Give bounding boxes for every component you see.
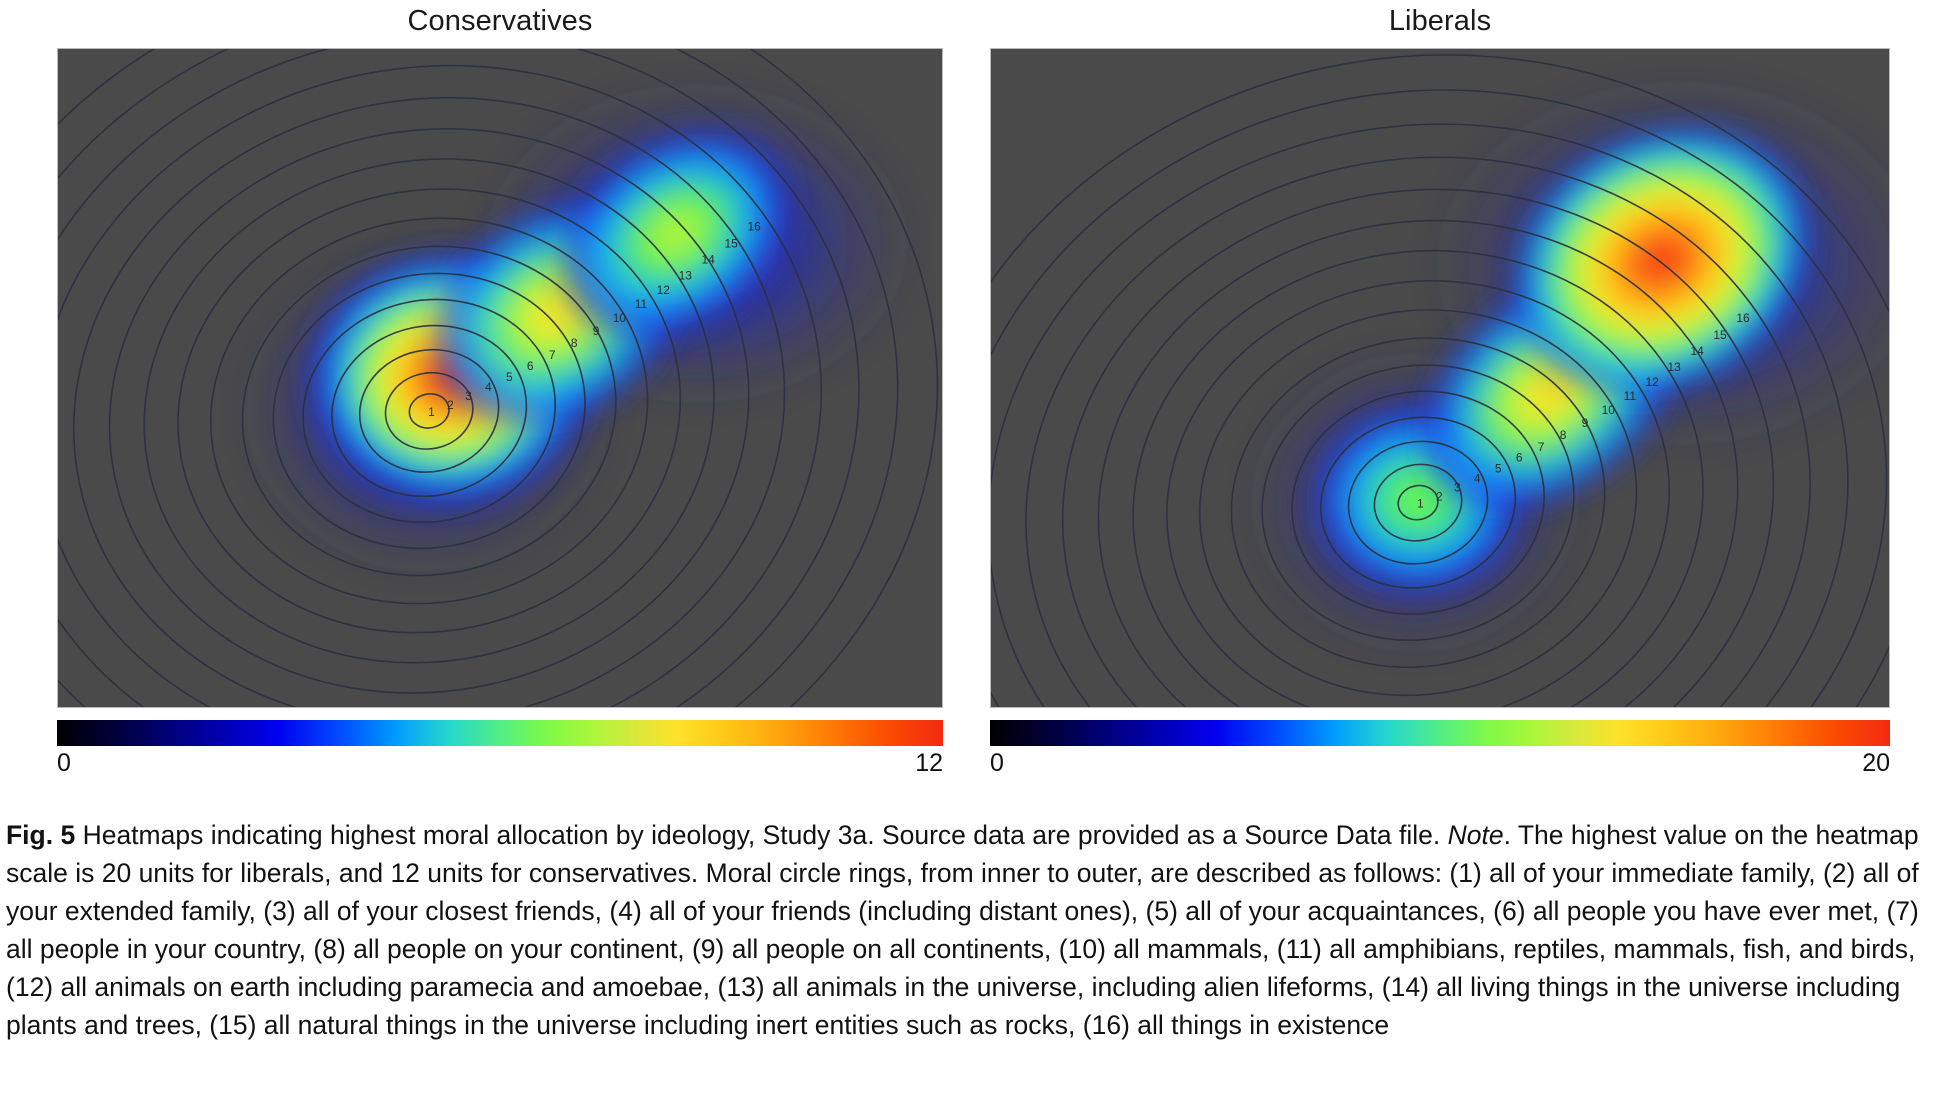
colorbar-min-label-liberals: 0 <box>990 748 1004 778</box>
ring-label-14: 14 <box>702 252 716 266</box>
ring-label-12: 12 <box>1646 375 1660 389</box>
colorbar-liberals <box>990 720 1890 746</box>
ring-label-11: 11 <box>635 297 648 311</box>
caption-part-2: . The highest value on the heatmap scale… <box>6 820 1919 1040</box>
ring-label-8: 8 <box>1560 428 1567 442</box>
ring-label-2: 2 <box>447 398 454 412</box>
ring-label-7: 7 <box>549 348 556 362</box>
panel-title-conservatives: Conservatives <box>57 0 943 48</box>
ring-label-15: 15 <box>724 236 738 250</box>
ring-label-3: 3 <box>465 389 472 403</box>
colorbar-ticks-liberals: 0 20 <box>990 748 1890 778</box>
colorbar-block-liberals: 0 20 <box>990 720 1890 778</box>
colorbar-max-label-conservatives: 12 <box>915 748 943 778</box>
ring-label-16: 16 <box>1736 311 1750 325</box>
ring-label-3: 3 <box>1454 481 1461 495</box>
ring-label-5: 5 <box>1495 462 1502 476</box>
ring-label-4: 4 <box>1474 472 1481 486</box>
ring-label-12: 12 <box>657 283 671 297</box>
ring-label-6: 6 <box>1516 451 1523 465</box>
figure-root: Conservatives <box>0 0 1956 1104</box>
ring-label-2: 2 <box>1436 490 1443 504</box>
ring-label-9: 9 <box>1582 416 1589 430</box>
heatmap-svg-conservatives: 1 2 3 4 5 6 7 8 9 10 11 12 13 14 <box>58 49 942 707</box>
ring-label-4: 4 <box>485 380 492 394</box>
heatmap-plot-conservatives: 1 2 3 4 5 6 7 8 9 10 11 12 13 14 <box>57 48 943 708</box>
ring-label-13: 13 <box>679 268 693 282</box>
caption-note-word: Note <box>1448 820 1504 850</box>
ring-label-6: 6 <box>527 359 534 373</box>
colorbar-min-label-conservatives: 0 <box>57 748 71 778</box>
colorbar-ticks-conservatives: 0 12 <box>57 748 943 778</box>
heatmap-svg-liberals: 1 2 3 4 5 6 7 8 9 10 11 12 13 14 <box>991 49 1889 707</box>
ring-label-1: 1 <box>428 405 435 419</box>
ring-label-9: 9 <box>593 324 600 338</box>
colorbar-conservatives <box>57 720 943 746</box>
panel-conservatives: Conservatives <box>57 0 943 778</box>
caption-part-1: Heatmaps indicating highest moral alloca… <box>75 820 1447 850</box>
figure-label: Fig. 5 <box>6 820 75 850</box>
heatmap-plot-liberals: 1 2 3 4 5 6 7 8 9 10 11 12 13 14 <box>990 48 1890 708</box>
ring-label-10: 10 <box>613 311 627 325</box>
ring-label-8: 8 <box>571 336 578 350</box>
panel-liberals: Liberals <box>990 0 1890 778</box>
ring-label-5: 5 <box>506 370 513 384</box>
ring-label-16: 16 <box>747 219 761 233</box>
ring-label-15: 15 <box>1713 328 1727 342</box>
figure-caption: Fig. 5 Heatmaps indicating highest moral… <box>6 816 1950 1044</box>
ring-label-1: 1 <box>1417 497 1424 511</box>
ring-label-14: 14 <box>1690 344 1704 358</box>
panels-row: Conservatives <box>0 0 1956 800</box>
colorbar-max-label-liberals: 20 <box>1862 748 1890 778</box>
ring-label-11: 11 <box>1624 389 1637 403</box>
ring-label-13: 13 <box>1667 360 1681 374</box>
panel-title-liberals: Liberals <box>990 0 1890 48</box>
colorbar-block-conservatives: 0 12 <box>57 720 943 778</box>
ring-label-10: 10 <box>1602 403 1616 417</box>
ring-label-7: 7 <box>1538 440 1545 454</box>
